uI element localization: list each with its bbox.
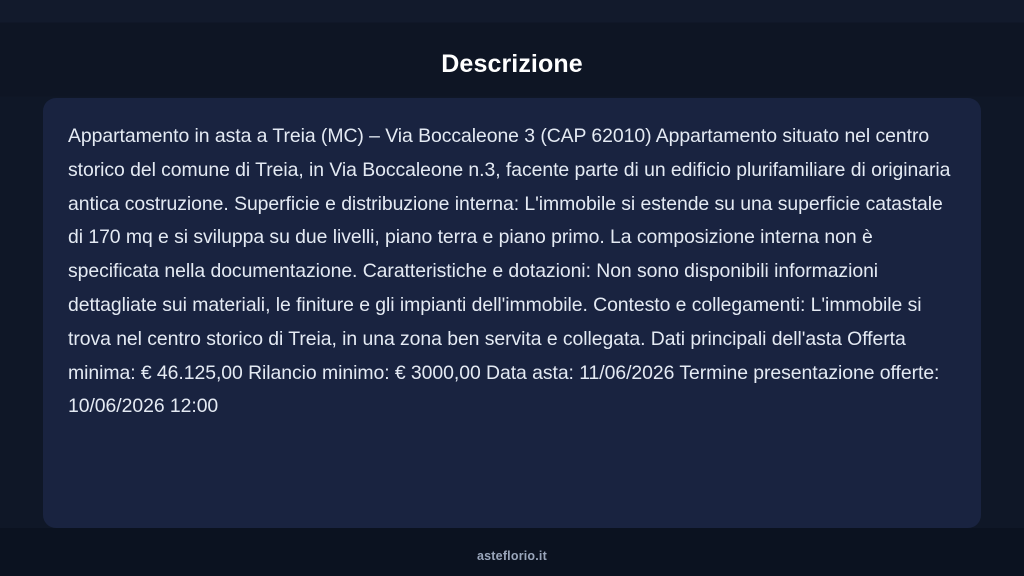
footer-watermark: asteflorio.it — [0, 549, 1024, 563]
slide-viewport: Descrizione Appartamento in asta a Treia… — [0, 0, 1024, 576]
description-card: Appartamento in asta a Treia (MC) – Via … — [43, 98, 981, 528]
page-title: Descrizione — [0, 48, 1024, 80]
description-body-text: Appartamento in asta a Treia (MC) – Via … — [68, 120, 953, 424]
